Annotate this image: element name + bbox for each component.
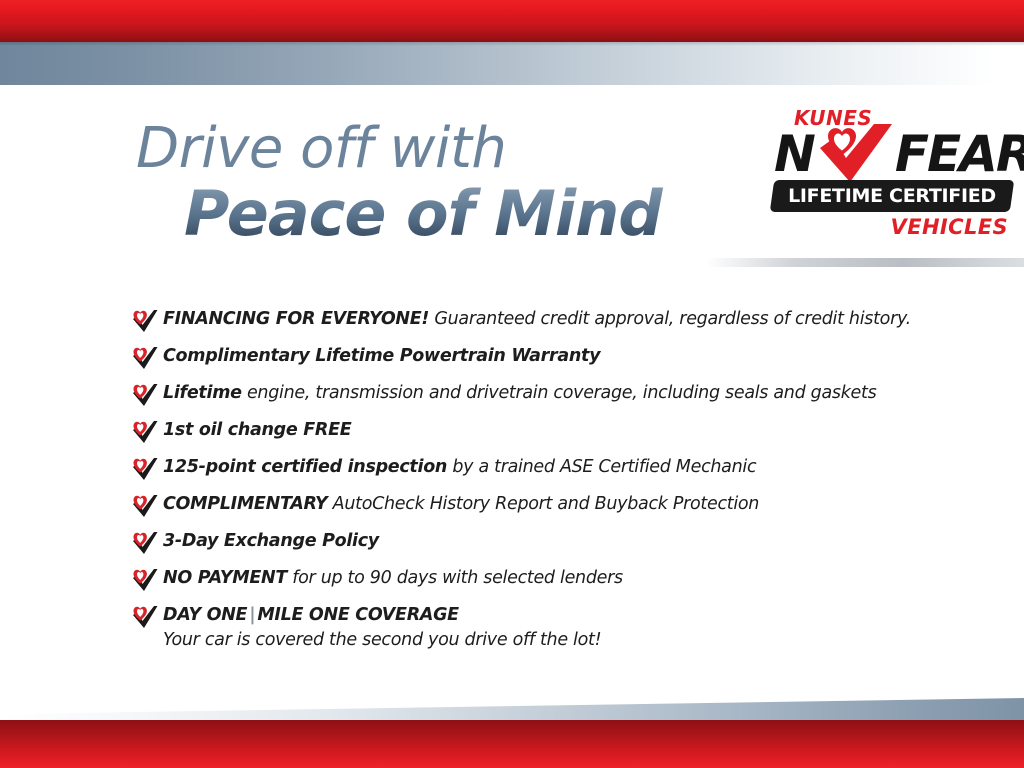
list-item: DAY ONE|MILE ONE COVERAGE Your car is co… xyxy=(131,604,931,657)
heart-check-icon xyxy=(131,531,159,555)
list-item: COMPLIMENTARY AutoCheck History Report a… xyxy=(131,493,931,530)
list-item: 1st oil change FREE xyxy=(131,419,931,456)
benefit-bold: DAY ONE xyxy=(163,605,247,625)
heart-checkmark-icon xyxy=(812,122,896,184)
headline-line-2: Peace of Mind xyxy=(184,180,736,248)
list-item: Lifetime engine, transmission and drivet… xyxy=(131,382,931,419)
top-banner xyxy=(0,0,1024,86)
advertisement-canvas: Drive off with Peace of Mind KUNES NOOFE… xyxy=(0,0,1024,768)
heart-check-icon xyxy=(131,346,159,370)
heart-check-icon xyxy=(131,568,159,592)
list-item: 125-point certified inspection by a trai… xyxy=(131,456,931,493)
benefit-text: DAY ONE|MILE ONE COVERAGE xyxy=(163,604,601,627)
benefit-bold: FINANCING FOR EVERYONE! xyxy=(163,309,429,329)
benefit-normal: engine, transmission and drivetrain cove… xyxy=(242,383,877,403)
benefit-normal: for up to 90 days with selected lenders xyxy=(287,568,623,588)
heart-check-icon xyxy=(131,383,159,407)
heart-check-icon xyxy=(131,420,159,444)
benefit-normal: by a trained ASE Certified Mechanic xyxy=(447,457,756,477)
heart-check-icon xyxy=(131,309,159,333)
benefit-bold: 3-Day Exchange Policy xyxy=(163,531,379,551)
benefit-normal: AutoCheck History Report and Buyback Pro… xyxy=(327,494,759,514)
benefit-text: 125-point certified inspection by a trai… xyxy=(163,456,756,479)
benefit-bold-secondary: MILE ONE COVERAGE xyxy=(257,605,459,625)
list-item: NO PAYMENT for up to 90 days with select… xyxy=(131,567,931,604)
benefit-bold: 1st oil change FREE xyxy=(163,420,351,440)
benefit-separator: | xyxy=(247,605,257,625)
benefit-subtext: Your car is covered the second you drive… xyxy=(163,629,601,652)
heart-check-icon xyxy=(131,457,159,481)
benefit-text: 1st oil change FREE xyxy=(163,419,351,442)
bottom-banner-red-stripe xyxy=(0,720,1024,768)
kunes-no-fear-logo: KUNES NOOFEAR LIFETIME CERTIFIED VEHICLE… xyxy=(770,108,1014,248)
heart-check-icon xyxy=(131,605,159,629)
headline-divider xyxy=(706,258,1024,267)
benefit-bold: Lifetime xyxy=(163,383,242,403)
benefit-text: NO PAYMENT for up to 90 days with select… xyxy=(163,567,623,590)
benefits-list: FINANCING FOR EVERYONE! Guaranteed credi… xyxy=(131,308,931,657)
benefit-text: FINANCING FOR EVERYONE! Guaranteed credi… xyxy=(163,308,911,331)
list-item: FINANCING FOR EVERYONE! Guaranteed credi… xyxy=(131,308,931,345)
benefit-bold: Complimentary Lifetime Powertrain Warran… xyxy=(163,346,600,366)
logo-no-fear-wordmark: NOOFEAR xyxy=(774,126,1014,184)
benefit-text: COMPLIMENTARY AutoCheck History Report a… xyxy=(163,493,759,516)
top-banner-gray-stripe xyxy=(0,42,1024,85)
logo-certified-text: LIFETIME CERTIFIED xyxy=(772,180,1012,212)
logo-wordmark-fear: FEAR xyxy=(895,125,1024,183)
benefit-bold: 125-point certified inspection xyxy=(163,457,447,477)
list-item: 3-Day Exchange Policy xyxy=(131,530,931,567)
logo-vehicles-text: VEHICLES xyxy=(891,216,1008,238)
headline-block: Drive off with Peace of Mind xyxy=(136,120,736,248)
top-banner-red-stripe xyxy=(0,0,1024,42)
benefit-bold: NO PAYMENT xyxy=(163,568,287,588)
benefit-text: Lifetime engine, transmission and drivet… xyxy=(163,382,876,405)
benefit-bold: COMPLIMENTARY xyxy=(163,494,327,514)
benefit-text: Complimentary Lifetime Powertrain Warran… xyxy=(163,345,600,368)
logo-certified-bar: LIFETIME CERTIFIED xyxy=(770,180,1014,212)
heart-check-icon xyxy=(131,494,159,518)
bottom-banner xyxy=(0,690,1024,768)
benefit-text-group: DAY ONE|MILE ONE COVERAGE Your car is co… xyxy=(163,604,601,652)
headline-line-1: Drive off with xyxy=(136,120,736,178)
list-item: Complimentary Lifetime Powertrain Warran… xyxy=(131,345,931,382)
benefit-text: 3-Day Exchange Policy xyxy=(163,530,379,553)
benefit-normal: Guaranteed credit approval, regardless o… xyxy=(429,309,911,329)
logo-wordmark-n: N xyxy=(774,125,814,183)
